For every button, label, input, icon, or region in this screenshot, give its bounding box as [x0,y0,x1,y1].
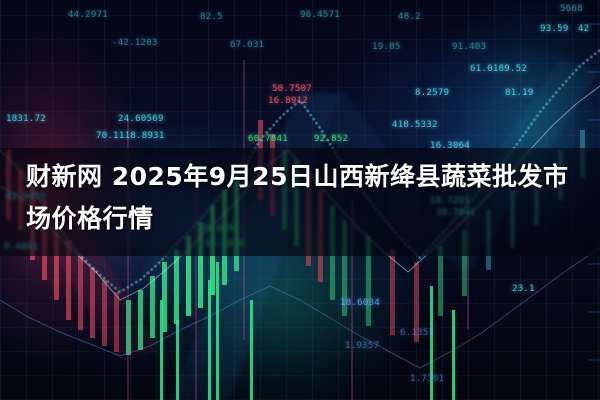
chart-number: 18.6034 [340,298,380,308]
headline-text: 财新网 2025年9月25日山西新绛县蔬菜批发市场价格行情 [0,156,600,240]
chart-number: 42 [578,24,589,34]
chart-number: 8.2579 [415,88,449,98]
chart-number: 60.7841 [248,134,288,144]
chart-number: 82.5 [200,12,223,22]
chart-number: 61.0189.52 [470,64,527,74]
chart-number: 48.2 [398,12,421,22]
chart-number: 93.59 [540,24,569,34]
chart-number: 16.8912 [268,96,308,106]
chart-number: 81.19 [505,88,534,98]
chart-number: 67.031 [230,40,264,50]
chart-number: 50.7507 [272,84,312,94]
chart-number: 44.2971 [68,10,108,20]
chart-number: 5668 [560,4,583,14]
chart-number: 418.5332 [392,120,438,130]
chart-number: 70.1118.8931 [96,131,165,141]
chart-number: 91.403 [452,42,486,52]
chart-number: 1831.72 [6,114,46,124]
chart-number: 96.4571 [300,10,340,20]
chart-number: -42.1203 [112,38,158,48]
chart-number: 1.9357 [345,341,379,351]
chart-number: 19.85 [372,42,401,52]
chart-number: 6.1357 [400,328,434,338]
chart-number: 92.852 [314,134,348,144]
image-canvas: 93.59 42 61.0189.52 8.2579 81.19 50.7507… [0,0,600,400]
chart-number: 24.60569 [118,114,164,124]
chart-number: 1.7361 [410,374,444,384]
chart-number: 23.1 [512,284,535,294]
